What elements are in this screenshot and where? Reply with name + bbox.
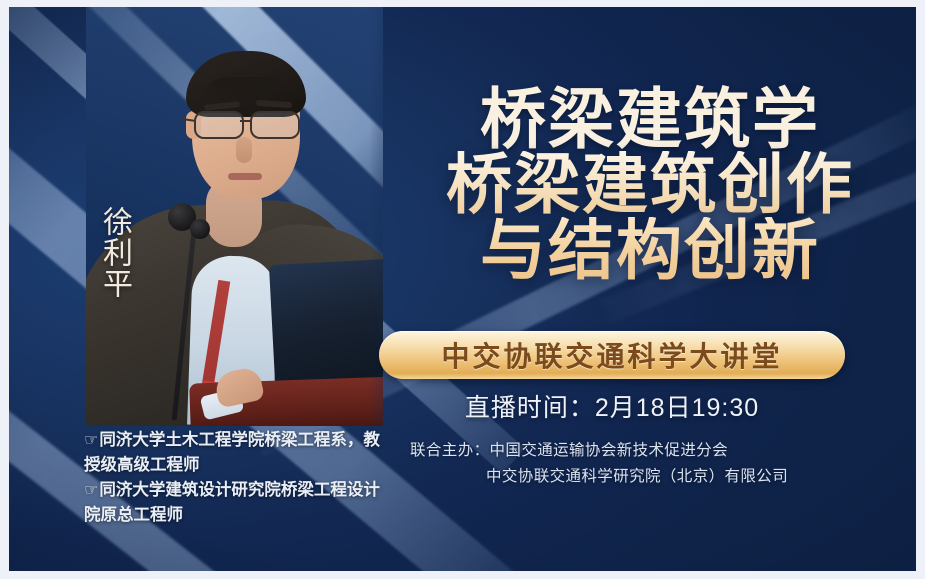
- glasses-lens-right: [250, 111, 300, 139]
- speaker-mouth: [228, 173, 262, 180]
- photo-edge-fade: [349, 7, 383, 426]
- webinar-poster: 徐利平 ☞同济大学土木工程学院桥梁工程系，教授级高级工程师 ☞同济大学建筑设计研…: [0, 0, 925, 579]
- credential-text-1: 同济大学土木工程学院桥梁工程系，教授级高级工程师: [84, 431, 380, 474]
- series-pill-banner: 中交协联交通科学大讲堂: [379, 331, 845, 379]
- glasses-icon: [188, 111, 306, 135]
- organizer-line-2: 中交协联交通科学研究院（北京）有限公司: [410, 464, 860, 490]
- poster-headline: 桥梁建筑学 桥梁建筑创作 与结构创新: [390, 86, 910, 284]
- eyebrow-left: [204, 101, 240, 111]
- glasses-bridge: [240, 120, 252, 122]
- series-pill-label: 中交协联交通科学大讲堂: [441, 335, 782, 375]
- credential-line-2: ☞同济大学建筑设计研究院桥梁工程设计院原总工程师: [84, 478, 396, 528]
- glasses-lens-left: [194, 111, 244, 139]
- organizer-line-1: 中国交通运输协会新技术促进分会: [490, 442, 729, 459]
- headline-line-3: 与结构创新: [390, 217, 910, 284]
- organizers-label: 联合主办：: [410, 442, 490, 459]
- headline-line-1: 桥梁建筑学: [390, 86, 910, 153]
- credential-line-1: ☞同济大学土木工程学院桥梁工程系，教授级高级工程师: [84, 428, 396, 478]
- pointing-hand-icon: ☞: [84, 428, 98, 453]
- organizers-block: 联合主办：中国交通运输协会新技术促进分会 中交协联交通科学研究院（北京）有限公司: [410, 438, 860, 490]
- eyebrow-right: [256, 100, 292, 108]
- headline-line-2: 桥梁建筑创作: [390, 151, 910, 218]
- speaker-nose: [236, 137, 252, 163]
- speaker-name: 徐利平: [88, 206, 132, 299]
- microphone-head-2: [190, 219, 210, 239]
- pointing-hand-icon: ☞: [84, 478, 98, 503]
- speaker-credentials: ☞同济大学土木工程学院桥梁工程系，教授级高级工程师 ☞同济大学建筑设计研究院桥梁…: [84, 428, 396, 528]
- credential-text-2: 同济大学建筑设计研究院桥梁工程设计院原总工程师: [84, 481, 380, 524]
- live-time: 直播时间：2月18日19:30: [379, 388, 845, 424]
